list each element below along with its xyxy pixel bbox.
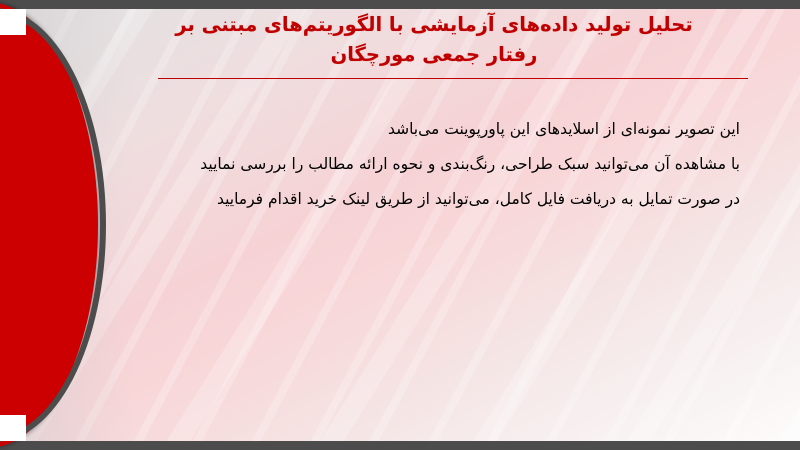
- slide-content-panel: [14, 9, 800, 441]
- diagonal-streak-texture-secondary: [14, 9, 800, 441]
- top-left-corner-fill: [0, 9, 26, 35]
- bottom-frame-bar: [0, 441, 800, 450]
- body-line-1: این تصویر نمونه‌ای از اسلایدهای این پاور…: [120, 112, 740, 147]
- slide-body: این تصویر نمونه‌ای از اسلایدهای این پاور…: [120, 112, 740, 217]
- presentation-slide: تحلیل تولید داده‌های آزمایشی با الگوریتم…: [0, 0, 800, 450]
- title-underline-rule: [158, 78, 748, 79]
- body-line-3: در صورت تمایل به دریافت فایل کامل، می‌تو…: [120, 182, 740, 217]
- bottom-left-corner-fill: [0, 415, 26, 441]
- slide-title-text: تحلیل تولید داده‌های آزمایشی با الگوریتم…: [104, 10, 764, 69]
- diagonal-streak-texture: [14, 9, 800, 441]
- slide-title: تحلیل تولید داده‌های آزمایشی با الگوریتم…: [104, 10, 764, 69]
- top-frame-bar: [0, 0, 800, 9]
- body-line-2: با مشاهده آن می‌توانید سبک طراحی، رنگ‌بن…: [120, 147, 740, 182]
